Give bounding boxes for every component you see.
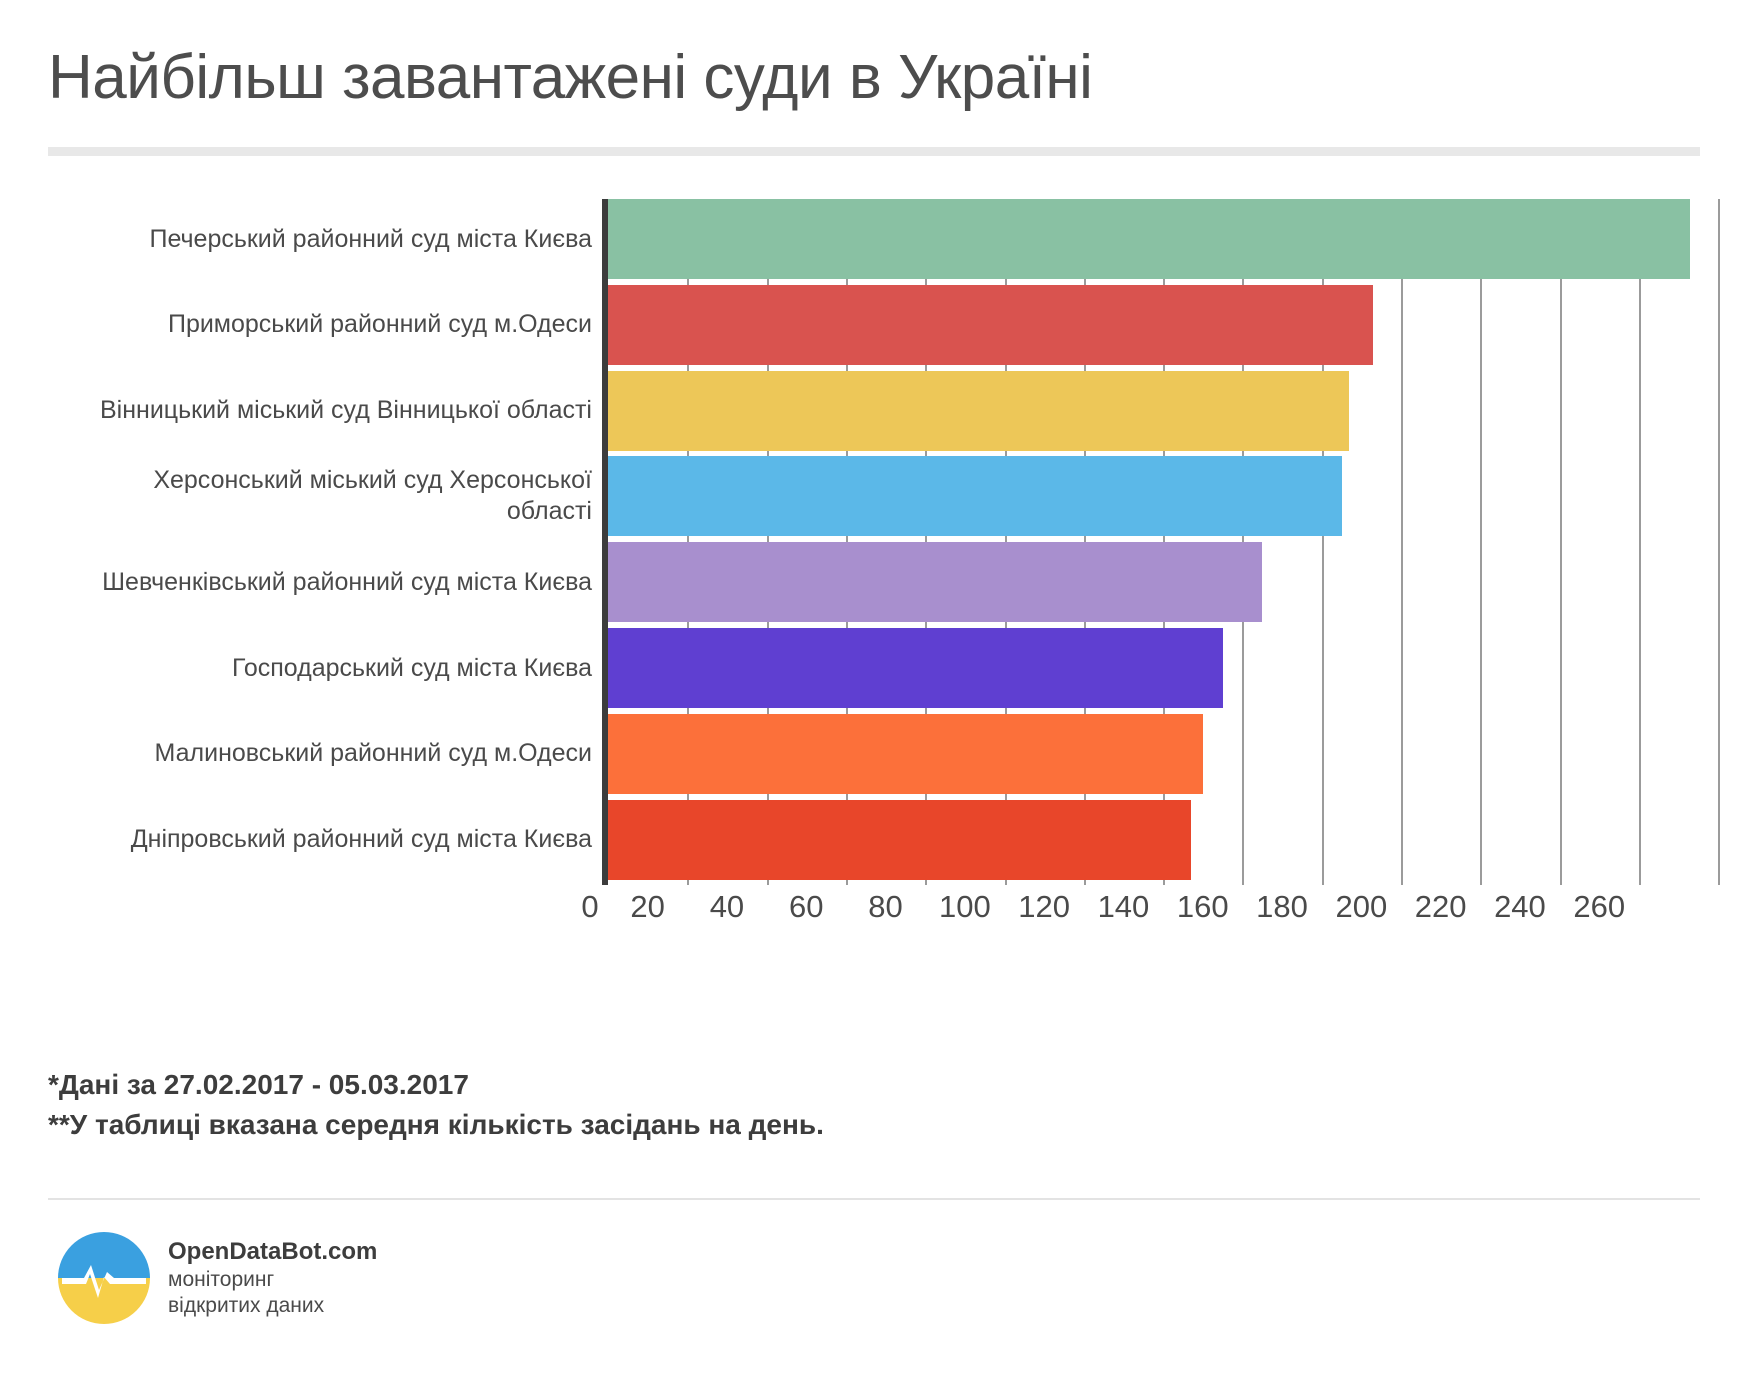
title-divider bbox=[48, 147, 1700, 156]
gridline bbox=[1560, 199, 1562, 885]
category-label: Дніпровський районний суд міста Києва bbox=[72, 800, 592, 880]
value-axis-ticks: 020406080100120140160180200220240260 bbox=[608, 885, 1748, 935]
bar bbox=[608, 371, 1349, 451]
footer-divider bbox=[48, 1198, 1700, 1200]
page-title: Найбільш завантажені суди в Україні bbox=[48, 42, 1092, 113]
bar bbox=[608, 800, 1191, 880]
footnote-1: *Дані за 27.02.2017 - 05.03.2017 bbox=[48, 1065, 1248, 1105]
tick-label: 120 bbox=[1018, 889, 1070, 925]
brand-tagline-1: моніторинг bbox=[168, 1267, 377, 1293]
footer: OpenDataBot.com моніторинг відкритих дан… bbox=[58, 1232, 377, 1324]
tick-label: 140 bbox=[1098, 889, 1150, 925]
tick-label: 60 bbox=[789, 889, 823, 925]
tick-label: 180 bbox=[1256, 889, 1308, 925]
tick-label: 0 bbox=[581, 889, 598, 925]
gridline bbox=[1639, 199, 1641, 885]
bar bbox=[608, 628, 1223, 708]
category-label: Вінницький міський суд Вінницької област… bbox=[72, 371, 592, 451]
tick-label: 100 bbox=[939, 889, 991, 925]
tick-label: 260 bbox=[1573, 889, 1625, 925]
infographic-page: Найбільш завантажені суди в Україні Пече… bbox=[0, 0, 1748, 1380]
bar bbox=[608, 456, 1342, 536]
gridline bbox=[1718, 199, 1720, 885]
category-axis: Печерський районний суд міста КиєваПримо… bbox=[40, 185, 592, 885]
bar bbox=[608, 714, 1203, 794]
tick-label: 20 bbox=[630, 889, 664, 925]
category-label: Малиновський районний суд м.Одеси bbox=[72, 714, 592, 794]
gridline bbox=[1480, 199, 1482, 885]
bar bbox=[608, 199, 1690, 279]
gridline bbox=[1401, 199, 1403, 885]
tick-label: 80 bbox=[868, 889, 902, 925]
category-label: Шевченківський районний суд міста Києва bbox=[72, 542, 592, 622]
footnote-2: **У таблиці вказана середня кількість за… bbox=[48, 1105, 1248, 1145]
tick-label: 200 bbox=[1335, 889, 1387, 925]
brand-tagline-2: відкритих даних bbox=[168, 1293, 377, 1319]
category-label: Приморський районний суд м.Одеси bbox=[72, 285, 592, 365]
bar-chart: Печерський районний суд міста КиєваПримо… bbox=[0, 185, 1748, 945]
footnotes: *Дані за 27.02.2017 - 05.03.2017 **У таб… bbox=[48, 1065, 1248, 1145]
plot-area bbox=[608, 185, 1748, 885]
category-label: Господарський суд міста Києва bbox=[72, 628, 592, 708]
category-label: Печерський районний суд міста Києва bbox=[72, 199, 592, 279]
bar bbox=[608, 542, 1262, 622]
brand-name: OpenDataBot.com bbox=[168, 1237, 377, 1267]
opendatabot-logo-icon bbox=[58, 1232, 150, 1324]
tick-label: 160 bbox=[1177, 889, 1229, 925]
tick-label: 40 bbox=[710, 889, 744, 925]
bar bbox=[608, 285, 1373, 365]
tick-label: 220 bbox=[1415, 889, 1467, 925]
tick-label: 240 bbox=[1494, 889, 1546, 925]
category-label: Херсонський міський суд Херсонської обла… bbox=[72, 456, 592, 536]
